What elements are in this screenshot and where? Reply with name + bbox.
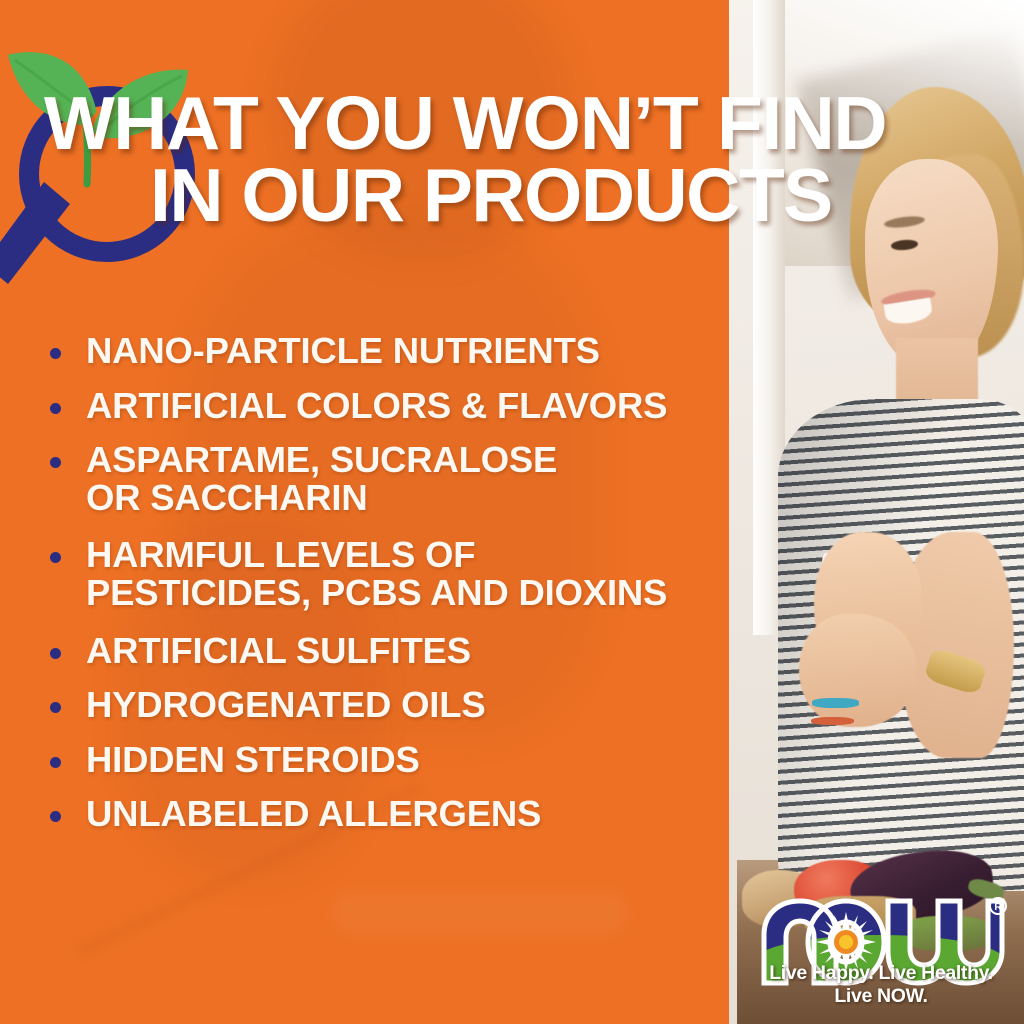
bullet-text: HARMFUL LEVELS OF xyxy=(86,534,475,575)
bullet-text: ASPARTAME, SUCRALOSE xyxy=(86,439,557,480)
photo-wrist-band-orange xyxy=(811,717,854,725)
list-item: ARTIFICIAL SULFITES xyxy=(46,632,736,670)
bullet-text: HIDDEN STEROIDS xyxy=(86,739,420,780)
list-item: ASPARTAME, SUCRALOSE OR SACCHARIN xyxy=(46,441,736,516)
list-item: UNLABELED ALLERGENS xyxy=(46,795,736,833)
bullet-text-line2: PESTICIDES, PCBS AND DIOXINS xyxy=(86,574,736,612)
list-item: NANO-PARTICLE NUTRIENTS xyxy=(46,332,736,370)
excluded-ingredients-list: NANO-PARTICLE NUTRIENTS ARTIFICIAL COLOR… xyxy=(46,332,736,850)
bullet-text: HYDROGENATED OILS xyxy=(86,684,485,725)
bullet-text: ARTIFICIAL COLORS & FLAVORS xyxy=(86,385,667,426)
list-item: HYDROGENATED OILS xyxy=(46,686,736,724)
headline-line-1: WHAT YOU WON’T FIND xyxy=(0,88,1000,160)
headline: WHAT YOU WON’T FIND IN OUR PRODUCTS xyxy=(0,88,1000,231)
bullet-text: NANO-PARTICLE NUTRIENTS xyxy=(86,330,600,371)
list-item: HIDDEN STEROIDS xyxy=(46,741,736,779)
bullet-text-line2: OR SACCHARIN xyxy=(86,479,736,517)
watermark-streak-two xyxy=(330,890,630,936)
poster-canvas: WHAT YOU WON’T FIND IN OUR PRODUCTS NANO… xyxy=(0,0,1024,1024)
photo-woman-arm xyxy=(901,532,1014,757)
bullet-text: UNLABELED ALLERGENS xyxy=(86,793,541,834)
photo-woman-hand-lower xyxy=(799,614,917,727)
list-item: ARTIFICIAL COLORS & FLAVORS xyxy=(46,387,736,425)
svg-text:R: R xyxy=(994,902,1002,913)
list-item: HARMFUL LEVELS OF PESTICIDES, PCBS AND D… xyxy=(46,536,736,611)
bullet-text: ARTIFICIAL SULFITES xyxy=(86,630,471,671)
headline-line-2: IN OUR PRODUCTS xyxy=(0,160,1000,232)
brand-tagline: Live Happy. Live Healthy. Live NOW. xyxy=(752,962,1010,1008)
photo-wrist-band-teal xyxy=(812,698,859,707)
